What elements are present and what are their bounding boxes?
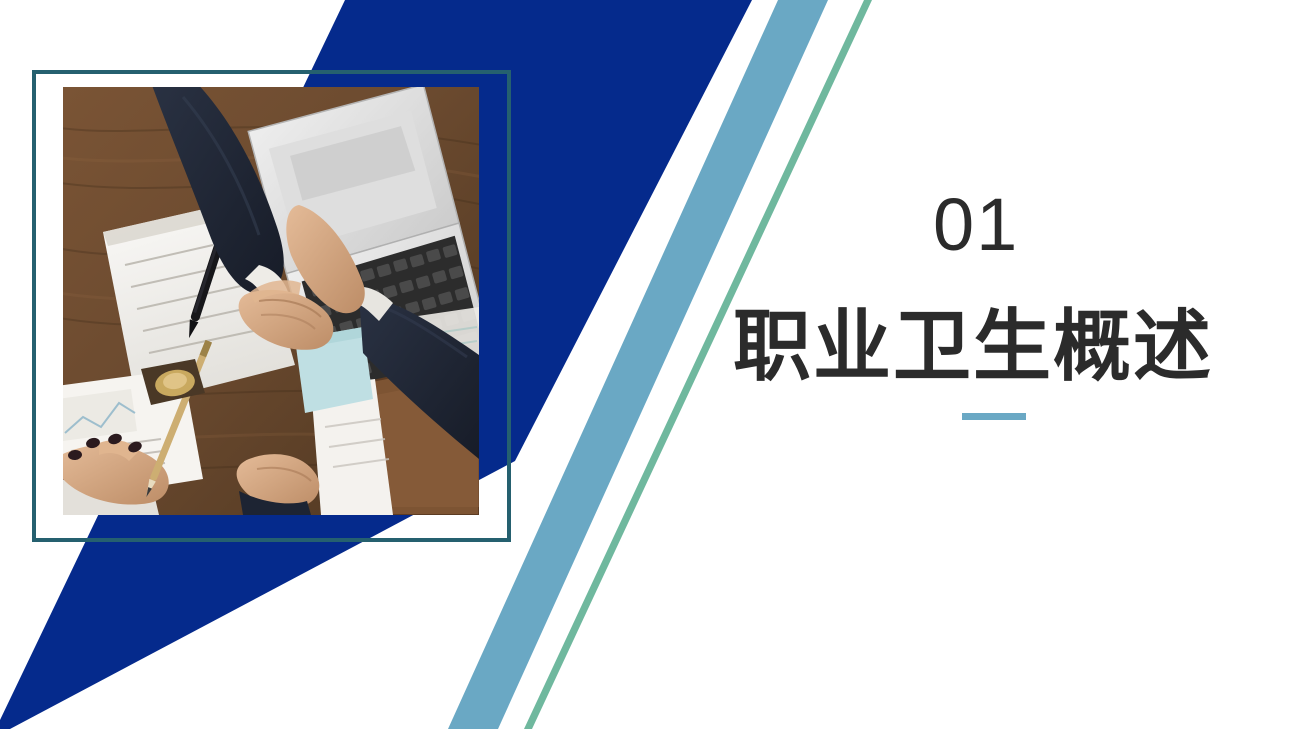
presentation-slide: 01 职业卫生概述	[0, 0, 1296, 729]
section-heading-block: 01 职业卫生概述	[700, 180, 1260, 440]
photo-illustration	[63, 87, 479, 515]
section-number: 01	[933, 188, 1019, 262]
page-title: 职业卫生概述	[733, 308, 1213, 386]
business-handshake-photo	[63, 87, 479, 515]
title-underline-accent	[962, 413, 1026, 420]
